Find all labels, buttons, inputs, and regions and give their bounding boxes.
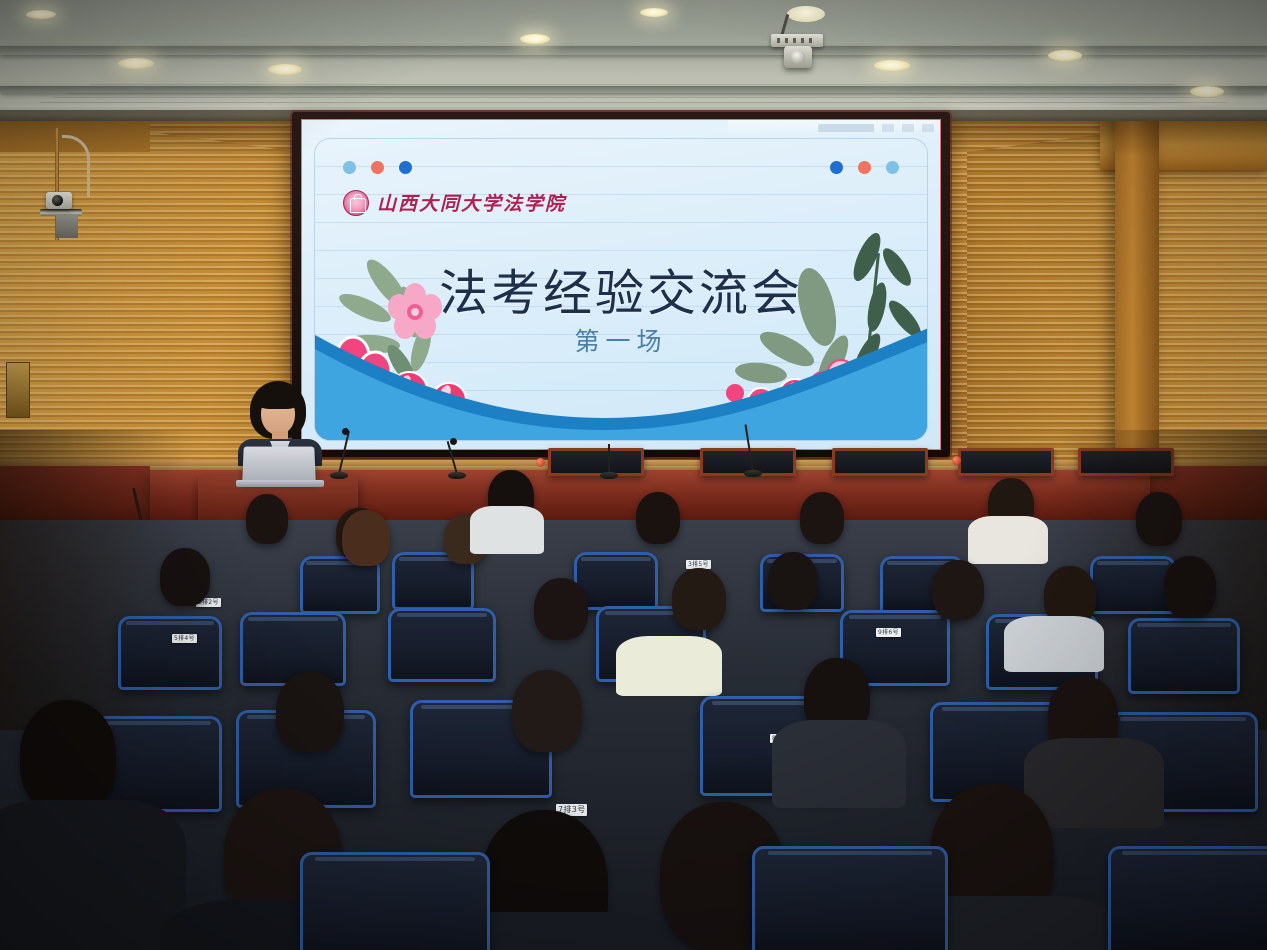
attendee-head	[20, 700, 116, 812]
ceiling-downlight	[520, 34, 550, 44]
projector-lamp	[787, 6, 825, 22]
ceiling-downlight	[268, 64, 302, 75]
camera-wall-mount	[56, 214, 78, 238]
presenter-laptop	[242, 447, 315, 483]
dot-blue	[399, 161, 412, 174]
nameplate	[958, 448, 1054, 476]
ceiling-downlight	[1190, 86, 1224, 97]
window-overlay-bar	[728, 120, 940, 136]
attendee-shoulders	[616, 636, 722, 696]
laptop-keyboard-base	[236, 480, 324, 487]
mic-indicator	[536, 458, 545, 467]
seat[interactable]	[240, 612, 346, 686]
attendee-head	[534, 578, 588, 640]
ceiling-downlight	[118, 58, 154, 69]
seat-number-label: 5排4号	[172, 634, 197, 643]
minimize-icon	[882, 124, 894, 132]
attendee-shoulders	[0, 800, 186, 950]
maximize-icon	[902, 124, 914, 132]
lecture-hall-photo: 山西大同大学法学院	[0, 0, 1267, 950]
seat[interactable]	[300, 852, 490, 950]
seat[interactable]	[752, 846, 948, 950]
attendee-head	[636, 492, 680, 544]
attendee-head	[800, 492, 844, 544]
seat-number-label: 9排6号	[876, 628, 901, 637]
attendee-head	[246, 494, 288, 544]
institution-name: 山西大同大学法学院	[377, 189, 566, 216]
camera-lens-icon	[52, 195, 63, 206]
mic-capsule	[342, 428, 349, 435]
wall-speaker	[6, 362, 30, 418]
attendee-head	[1164, 556, 1216, 618]
slide-wave-decor	[315, 305, 928, 440]
dot-light-blue	[886, 161, 899, 174]
attendee-head	[342, 510, 390, 566]
attendee-head	[512, 670, 582, 752]
mic-indicator	[952, 456, 961, 465]
seat[interactable]	[1128, 618, 1240, 694]
projector-lens	[791, 50, 805, 64]
mic-base	[600, 472, 618, 479]
attendee-head	[672, 568, 726, 630]
presenter-fringe	[257, 389, 299, 409]
projection-screen: 山西大同大学法学院	[292, 112, 950, 457]
ceiling-downlight	[874, 60, 910, 71]
dot-blue	[830, 161, 843, 174]
ceiling	[0, 0, 1267, 118]
mic-capsule	[450, 438, 457, 445]
dot-light-blue	[343, 161, 356, 174]
nameplate	[548, 448, 644, 476]
attendee-head	[276, 672, 344, 752]
nameplate	[832, 448, 928, 476]
slide-card: 山西大同大学法学院	[314, 138, 928, 441]
decor-dots-left	[343, 161, 412, 174]
ceiling-downlight	[640, 8, 668, 17]
attendee-shoulders	[772, 720, 906, 808]
dot-coral	[858, 161, 871, 174]
seat[interactable]	[118, 616, 222, 690]
mic-base	[448, 472, 466, 479]
seat[interactable]	[388, 608, 496, 682]
attendee-head	[160, 548, 210, 606]
attendee-shoulders	[470, 506, 544, 554]
ceiling-beam	[0, 86, 1267, 93]
mic-base	[330, 472, 348, 479]
seat[interactable]	[1108, 846, 1267, 950]
dot-coral	[371, 161, 384, 174]
close-icon	[922, 124, 934, 132]
attendee-head	[1136, 492, 1182, 546]
institution-brand: 山西大同大学法学院	[343, 189, 566, 216]
mic-base	[744, 470, 762, 477]
attendee-shoulders	[1004, 616, 1104, 672]
attendee-head	[932, 560, 984, 620]
decor-dots-right	[830, 161, 899, 174]
slide-surface: 山西大同大学法学院	[301, 119, 941, 450]
ceiling-projector	[757, 4, 835, 66]
attendee-shoulders	[1024, 738, 1164, 828]
window-title-chip	[818, 124, 874, 132]
attendee-shoulders	[968, 516, 1048, 564]
mic-gooseneck	[608, 444, 610, 474]
ceiling-downlight	[1048, 50, 1082, 61]
attendee-head	[768, 552, 818, 610]
ceiling-downlight	[26, 10, 56, 19]
university-crest-icon	[343, 190, 369, 216]
